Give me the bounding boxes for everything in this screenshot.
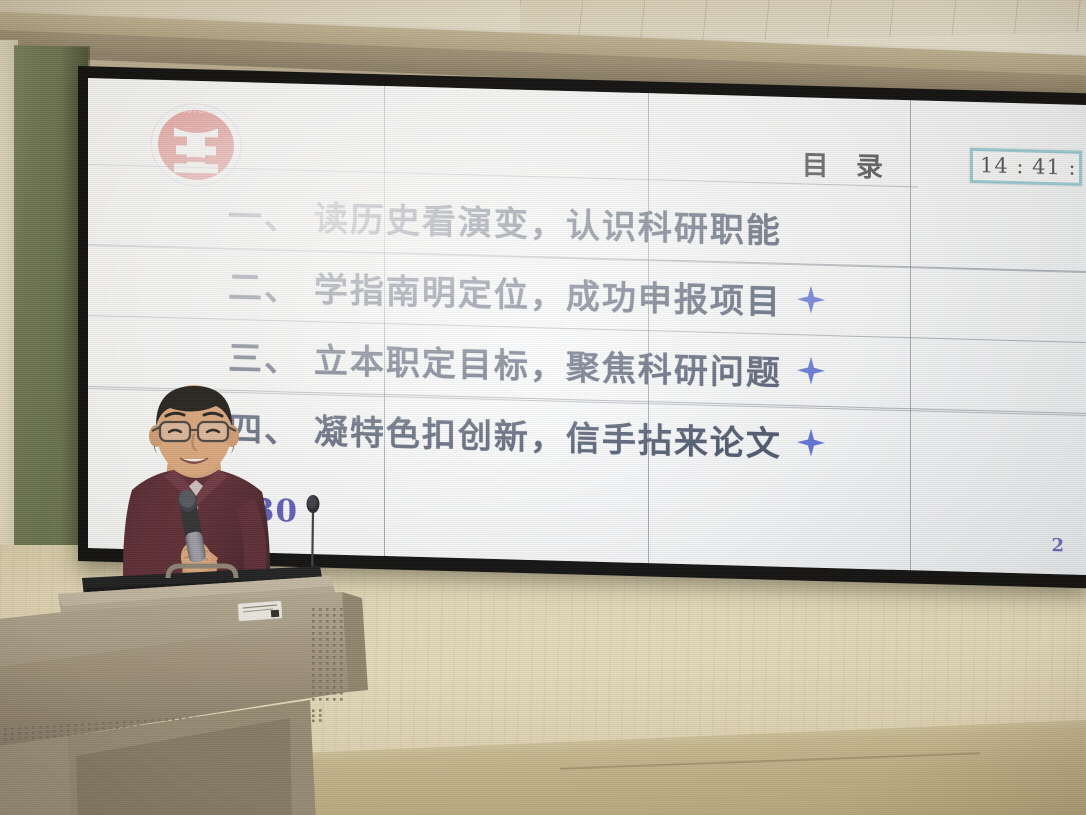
sparkle-star-icon (796, 284, 826, 315)
toc-item-text: 二、 学指南明定位，成功申报项目 (228, 259, 782, 323)
videowall-seam-vertical (648, 93, 649, 563)
slide-page-number: 2 (1051, 535, 1064, 556)
videowall-seam-vertical (910, 100, 911, 570)
sparkle-star-icon (796, 355, 826, 386)
svg-text:JIAOTONG: JIAOTONG (173, 106, 218, 115)
lectern (0, 560, 370, 815)
sparkle-star-icon (796, 427, 826, 458)
toc-item-text: 四、 凝特色扣创新，信手拈来论文 (228, 402, 782, 466)
lecture-hall-scene: JIAOTONG COLLEGE 目 录 14 : 41 : 41 一、 读历史… (0, 0, 1086, 815)
toc-item-text: 一、 读历史看演变，认识科研职能 (228, 188, 782, 252)
toc-item-text: 三、 立本职定目标，聚焦科研问题 (228, 330, 782, 394)
videowall-seam-vertical (384, 86, 385, 556)
clock-widget: 14 : 41 : 41 (970, 148, 1082, 186)
slide-title: 目 录 (802, 143, 892, 184)
